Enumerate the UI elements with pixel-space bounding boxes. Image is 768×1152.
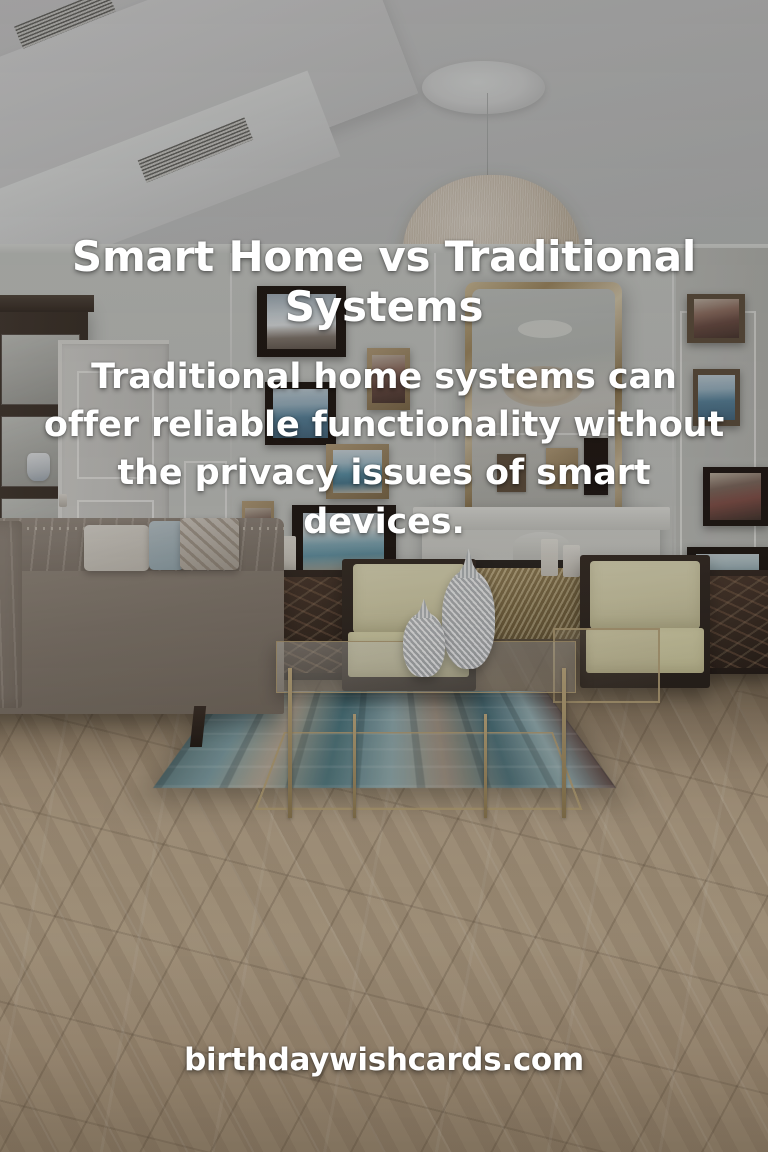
dark-overlay — [0, 0, 768, 1152]
footer-website-url: birthdaywishcards.com — [0, 1042, 768, 1078]
page-subtitle: Traditional home systems can offer relia… — [42, 353, 726, 546]
page-title: Smart Home vs Traditional Systems — [42, 232, 726, 333]
text-block: Smart Home vs Traditional Systems Tradit… — [0, 232, 768, 546]
pinterest-pin-graphic: Smart Home vs Traditional Systems Tradit… — [0, 0, 768, 1152]
